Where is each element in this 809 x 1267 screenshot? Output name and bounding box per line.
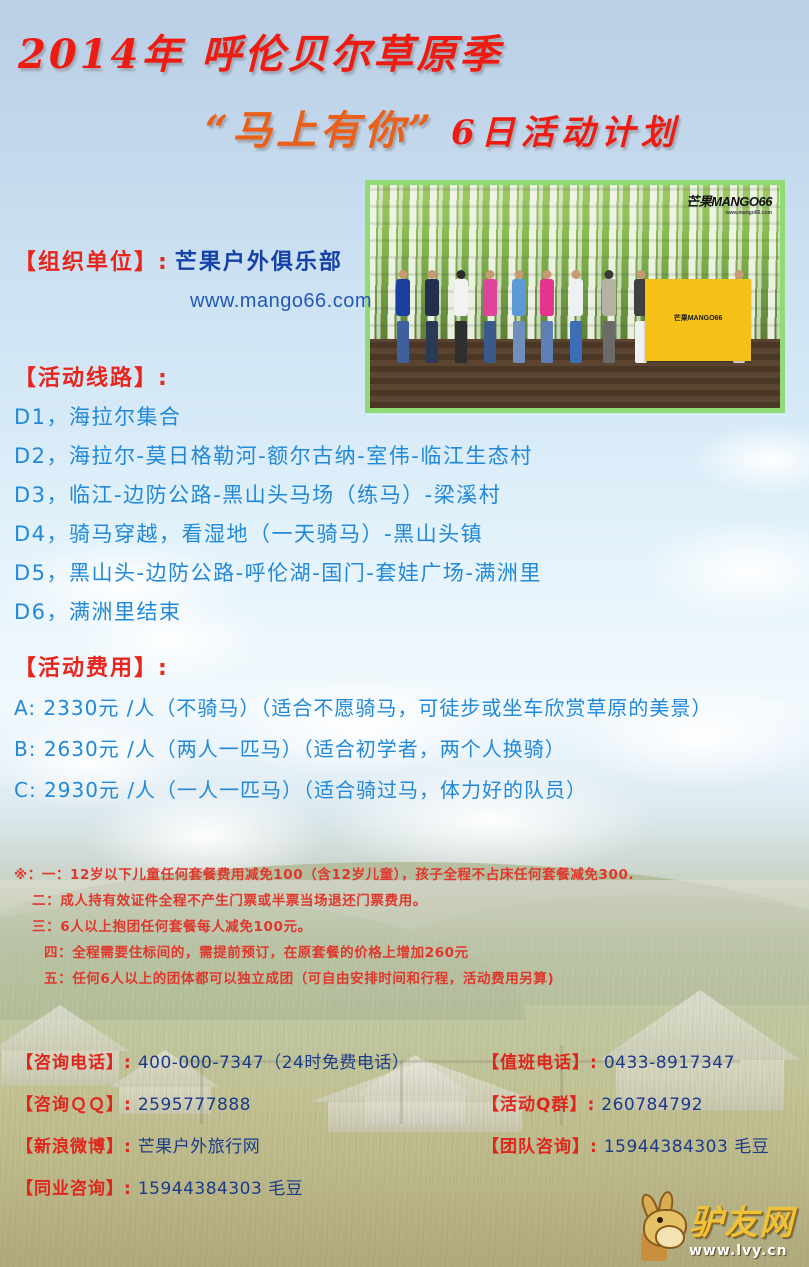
note-item: ※：一：12岁以下儿童任何套餐费用减免100（含12岁儿童），孩子全程不占床任何… [14,862,794,888]
contact-row: 【新浪微博】:芒果户外旅行网 [16,1126,409,1168]
contact-row: 【活动Q群】:260784792 [482,1084,769,1126]
person-figure [452,270,469,364]
note-item: 二：成人持有效证件全程不产生门票或半票当场退还门票费用。 [14,888,794,914]
person-figure [510,270,527,364]
organizer-value: 芒果户外俱乐部 [175,250,343,275]
contact-value[interactable]: 260784792 [601,1095,703,1115]
person-figure [423,270,440,364]
contact-label: 【活动Q群】: [482,1095,595,1115]
contacts-right-column: 【值班电话】:0433-8917347 【活动Q群】:260784792 【团队… [482,1042,769,1168]
title-line-2: “马上有你”6日活动计划 [205,98,681,156]
watermark-main-text: 芒果MANGO66 [686,194,772,209]
person-figure [395,270,412,364]
contact-label: 【咨询ＱＱ】: [16,1095,132,1115]
photo-inner: 芒果MANGO66 芒果MANGO66 www.mango66.com [370,185,780,408]
contact-label: 【值班电话】: [482,1053,598,1073]
note-item: 五：任何6人以上的团体都可以独立成团（可自由安排时间和行程，活动费用另算) [14,966,794,992]
person-figure [568,270,585,364]
route-item: D6，满洲里结束 [14,593,542,632]
fee-item: C: 2930元 /人（一人一匹马）（适合骑过马，体力好的队员） [14,770,712,811]
contact-row: 【同业咨询】:15944384303 毛豆 [16,1168,409,1210]
title-line-1: 2014年 呼伦贝尔草原季 [18,22,502,80]
route-heading: 【活动线路】: [14,360,169,392]
route-item: D1，海拉尔集合 [14,398,542,437]
poster-title-area: 2014年 呼伦贝尔草原季 “马上有你”6日活动计划 [0,0,809,170]
title-subtitle: 6日活动计划 [451,113,681,153]
route-item: D4，骑马穿越，看湿地（一天骑马）-黑山头镇 [14,515,542,554]
contact-value[interactable]: 15944384303 毛豆 [604,1137,769,1157]
contact-label: 【同业咨询】: [16,1179,132,1199]
contact-value[interactable]: 15944384303 毛豆 [138,1179,303,1199]
fees-list: A: 2330元 /人（不骑马）（适合不愿骑马，可徒步或坐车欣赏草原的美景） B… [14,688,712,811]
watermark-sub-text: www.mango66.com [686,210,772,216]
person-figure [481,270,498,364]
contact-label: 【团队咨询】: [482,1137,598,1157]
route-item: D3，临江-边防公路-黑山头马场（练马）-梁溪村 [14,476,542,515]
title-slogan: “马上有你” [205,107,435,154]
notes-list: ※：一：12岁以下儿童任何套餐费用减免100（含12岁儿童），孩子全程不占床任何… [14,862,794,992]
site-logo-url: www.lvy.cn [689,1243,788,1259]
fee-item: B: 2630元 /人（两人一匹马）（适合初学者，两个人换骑） [14,729,712,770]
contact-row: 【团队咨询】:15944384303 毛豆 [482,1126,769,1168]
contact-label: 【咨询电话】: [16,1053,132,1073]
route-item: D2，海拉尔-莫日格勒河-额尔古纳-室伟-临江生态村 [14,437,542,476]
note-item: 三：6人以上抱团任何套餐每人减免100元。 [14,914,794,940]
note-item: 四：全程需要住标间的，需提前预订，在原套餐的价格上增加260元 [14,940,794,966]
mango66-watermark: 芒果MANGO66 www.mango66.com [686,191,772,216]
contact-label: 【新浪微博】: [16,1137,132,1157]
fees-heading: 【活动费用】: [14,650,169,682]
group-photo: 芒果MANGO66 芒果MANGO66 www.mango66.com [365,180,785,413]
route-item: D5，黑山头-边防公路-呼伦湖-国门-套娃广场-满洲里 [14,554,542,593]
organizer-website[interactable]: www.mango66.com [190,290,372,313]
contact-value[interactable]: 芒果户外旅行网 [138,1137,261,1157]
poster-root: 2014年 呼伦贝尔草原季 “马上有你”6日活动计划 芒果 [0,0,809,1267]
contact-value[interactable]: 400-000-7347（24时免费电话） [138,1053,410,1073]
club-banner-text: 芒果MANGO66 [674,313,723,323]
route-list: D1，海拉尔集合 D2，海拉尔-莫日格勒河-额尔古纳-室伟-临江生态村 D3，临… [14,398,542,632]
organizer-label: 【组织单位】: [14,250,169,275]
donkey-mascot-icon [631,1195,689,1261]
organizer-block: 【组织单位】:芒果户外俱乐部 [14,244,343,276]
contact-row: 【咨询电话】:400-000-7347（24时免费电话） [16,1042,409,1084]
site-logo[interactable]: 驴友网 www.lvy.cn [627,1191,803,1263]
contact-value[interactable]: 2595777888 [138,1095,251,1115]
person-figure [600,270,617,364]
contact-row: 【咨询ＱＱ】:2595777888 [16,1084,409,1126]
contacts-left-column: 【咨询电话】:400-000-7347（24时免费电话） 【咨询ＱＱ】:2595… [16,1042,409,1210]
site-logo-name: 驴友网 [689,1195,794,1244]
contact-row: 【值班电话】:0433-8917347 [482,1042,769,1084]
contact-value[interactable]: 0433-8917347 [604,1053,735,1073]
club-banner: 芒果MANGO66 [645,279,752,362]
person-figure [539,270,556,364]
fee-item: A: 2330元 /人（不骑马）（适合不愿骑马，可徒步或坐车欣赏草原的美景） [14,688,712,729]
